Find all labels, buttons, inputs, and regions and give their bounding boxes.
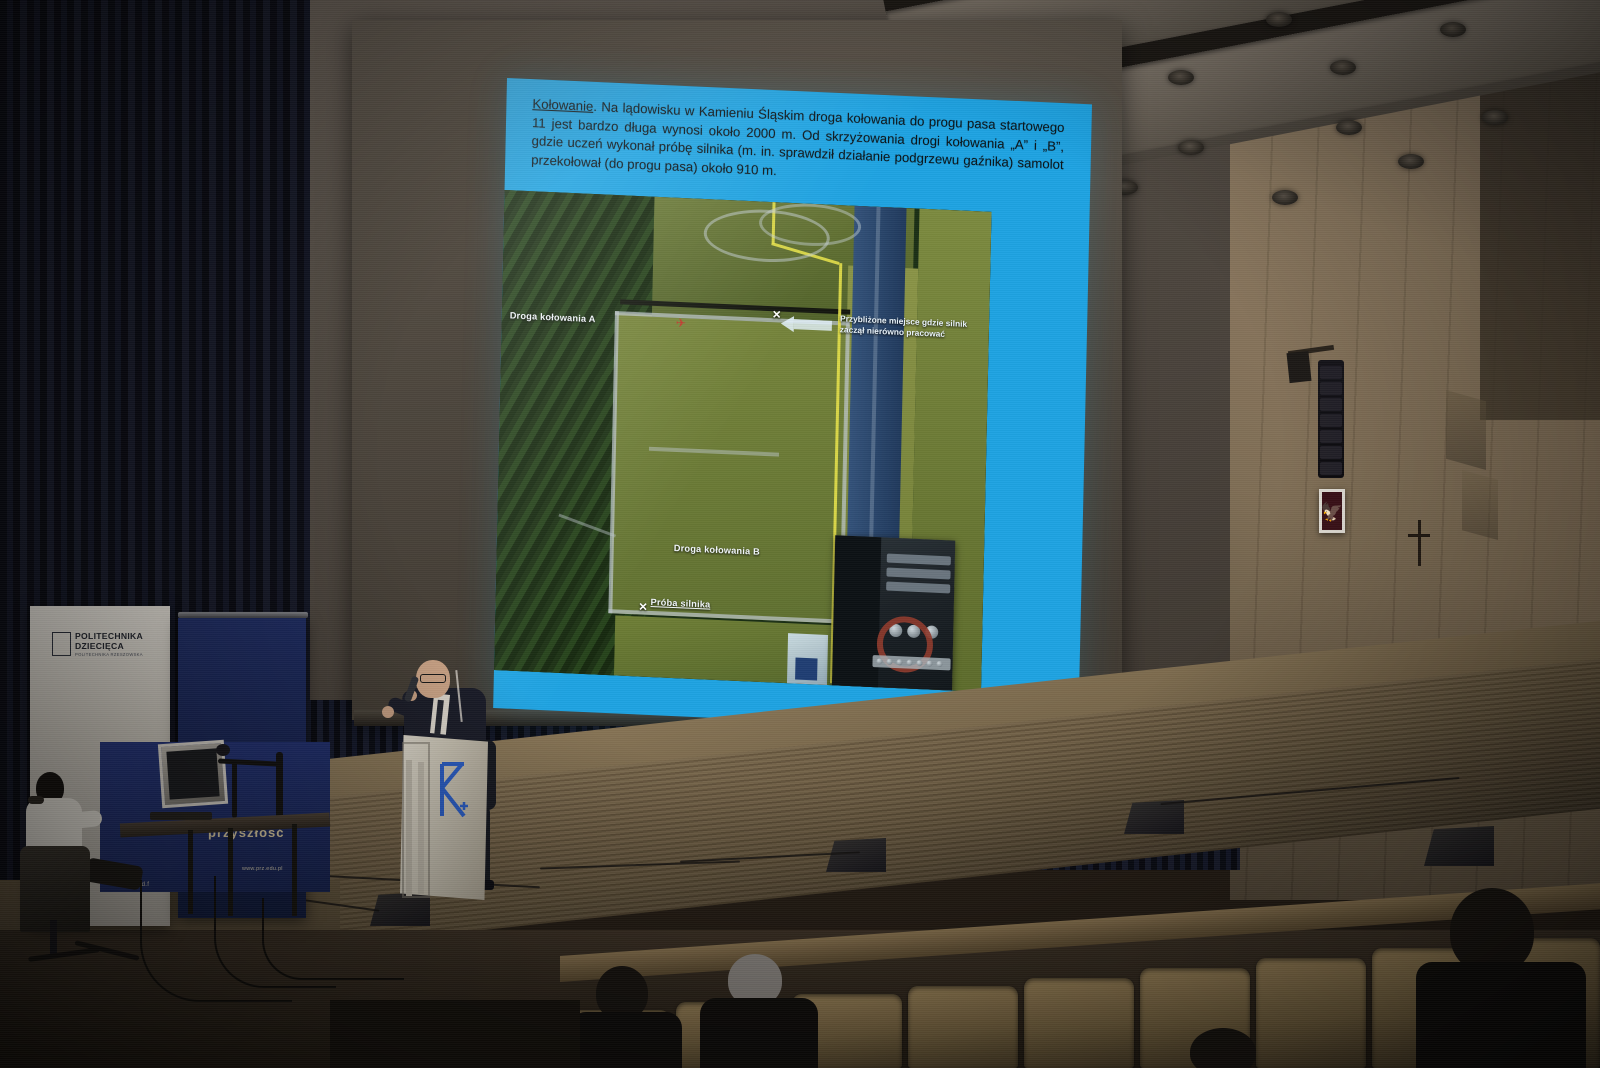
stage-monitor — [826, 838, 886, 872]
threshold-inset-photo — [787, 633, 828, 692]
lectern-logo — [438, 762, 472, 818]
wall-sconce — [1446, 390, 1486, 470]
arrow-left-icon — [781, 316, 794, 333]
line-array-speaker — [1318, 360, 1344, 478]
stage-monitor — [1124, 800, 1184, 834]
auditorium-seat[interactable] — [1024, 978, 1134, 1068]
projection-screen: Kołowanie. Na lądowisku w Kamieniu Śląsk… — [352, 20, 1122, 720]
polish-emblem: 🦅 — [1319, 489, 1345, 533]
banner-white-line3: POLITECHNIKA RZESZOWSKA — [75, 653, 143, 658]
banner-white-line2: DZIECIĘCA — [75, 642, 124, 652]
wall-sconce — [1462, 470, 1498, 540]
floor-cable — [262, 898, 404, 980]
stage-monitor — [1424, 826, 1494, 866]
eagle-icon: 🦅 — [1321, 503, 1343, 521]
pd-logo-icon — [52, 632, 71, 656]
foreground-shadow — [330, 1000, 580, 1068]
auditorium-photo: Kołowanie. Na lądowisku w Kamieniu Śląsk… — [0, 0, 1600, 1068]
auditorium-seat[interactable] — [908, 986, 1018, 1068]
camera-post — [232, 762, 237, 818]
airplane-icon: ✈ — [676, 316, 686, 330]
speaker-backplate — [1286, 351, 1311, 383]
laptop[interactable] — [150, 812, 212, 820]
slide-body-text: Kołowanie. Na lądowisku w Kamieniu Śląsk… — [531, 95, 1065, 194]
backdrop-url: www.prz.edu.pl — [242, 866, 283, 872]
glasses-icon — [420, 674, 446, 683]
aerial-photo: ✈ ✕ ✕ Droga kołowania A Droga kołowania … — [494, 190, 992, 692]
cockpit-inset-photo — [832, 535, 955, 692]
presentation-slide: Kołowanie. Na lądowisku w Kamieniu Śląsk… — [493, 78, 1092, 734]
auditorium-seat[interactable] — [1256, 958, 1366, 1068]
x-mark-icon: ✕ — [638, 600, 648, 613]
camera-head — [216, 744, 230, 756]
